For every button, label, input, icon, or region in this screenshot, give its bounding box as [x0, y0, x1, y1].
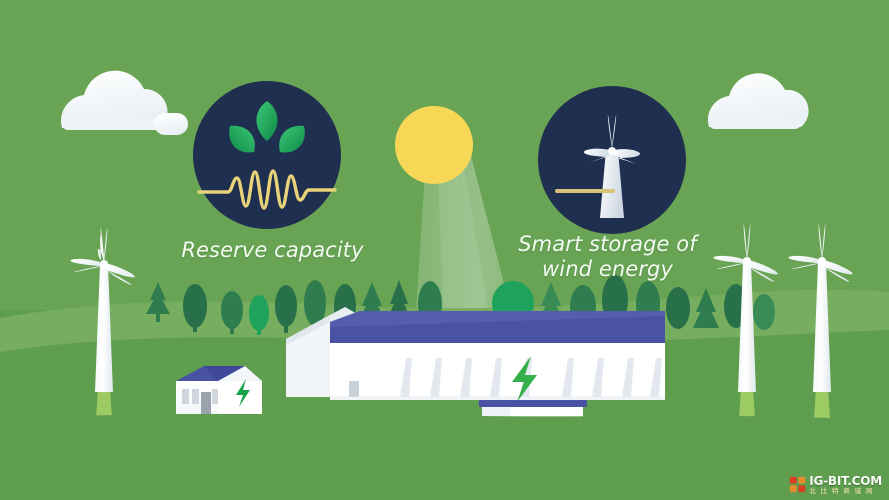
tree-round [753, 294, 775, 330]
tree-round [666, 287, 690, 329]
ground-foreground [0, 414, 889, 500]
baseline-accent [555, 189, 615, 193]
sun [395, 106, 473, 184]
house-window [182, 389, 189, 404]
watermark-subtitle: 北 比 特 商 城 网 [809, 488, 882, 495]
scene-graphic [0, 0, 889, 500]
smart-storage-badge [538, 86, 686, 234]
house-door [201, 392, 211, 414]
house-window [192, 389, 199, 404]
house-window [212, 389, 218, 404]
warehouse-door [349, 381, 359, 397]
reserve-capacity-badge [193, 81, 341, 229]
watermark: IG-BIT.COM 北 比 特 商 城 网 [786, 473, 885, 497]
cloud-small-left [154, 113, 188, 135]
watermark-title: IG-BIT.COM [809, 475, 882, 487]
storage-warehouse [286, 307, 665, 402]
illustration-canvas: Reserve capacity Smart storage of wind e… [0, 0, 889, 500]
ig-bit-logo-icon [789, 476, 806, 493]
